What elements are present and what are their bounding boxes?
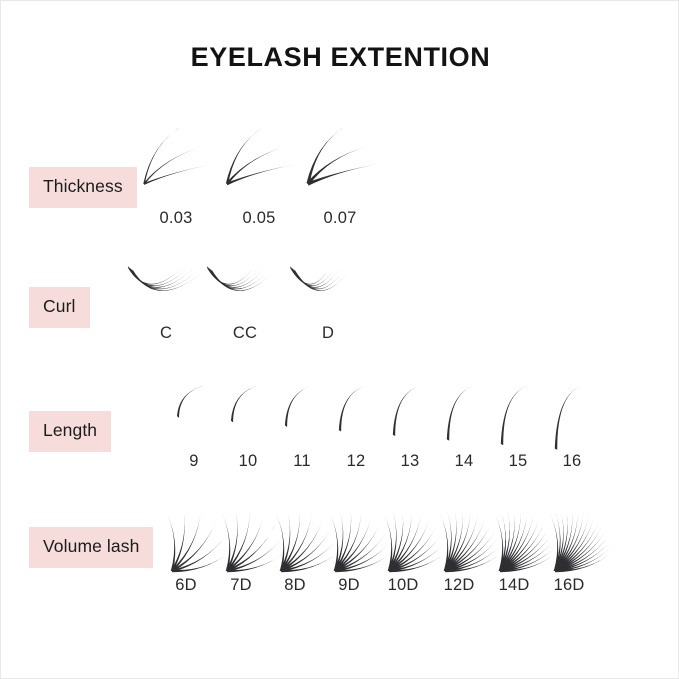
- lash-volume-fan-icon: [158, 497, 214, 575]
- lash-curl-icon: [199, 253, 291, 311]
- sample-length-10: 10: [221, 383, 275, 424]
- sample-curl-d: D: [282, 249, 374, 311]
- sample-volume-9d: 9D: [321, 497, 377, 575]
- sample-length-13: 13: [383, 383, 437, 437]
- sample-label: 9D: [321, 577, 377, 594]
- row-label-curl: Curl: [29, 287, 90, 328]
- lash-single-icon: [221, 383, 275, 424]
- sample-label: 12: [329, 453, 383, 470]
- sample-label: CC: [199, 325, 291, 342]
- sample-volume-12d: 12D: [431, 497, 487, 575]
- sample-label: 15: [491, 453, 545, 470]
- sample-label: 14D: [486, 577, 542, 594]
- lash-single-icon: [437, 383, 491, 442]
- sample-label: 16D: [541, 577, 597, 594]
- sample-label: 8D: [267, 577, 323, 594]
- sample-length-9: 9: [167, 383, 221, 419]
- sample-volume-6d: 6D: [158, 497, 214, 575]
- sample-label: 0.03: [128, 210, 224, 227]
- row-label-length: Length: [29, 411, 111, 452]
- sample-label: 11: [275, 453, 329, 470]
- lash-single-icon: [329, 383, 383, 433]
- sample-volume-14d: 14D: [486, 497, 542, 575]
- sample-length-11: 11: [275, 383, 329, 428]
- lash-volume-fan-icon: [213, 497, 269, 575]
- lash-single-icon: [383, 383, 437, 437]
- lash-volume-fan-icon: [267, 497, 323, 575]
- sample-label: 6D: [158, 577, 214, 594]
- lash-volume-fan-icon: [541, 497, 597, 575]
- sample-label: D: [282, 325, 374, 342]
- page-title: EYELASH EXTENTION: [1, 42, 679, 73]
- lash-volume-fan-icon: [375, 497, 431, 575]
- lash-single-icon: [545, 383, 599, 451]
- sample-label: 12D: [431, 577, 487, 594]
- sample-label: 0.07: [292, 210, 388, 227]
- sample-length-16: 16: [545, 383, 599, 451]
- sample-label: 14: [437, 453, 491, 470]
- sample-volume-10d: 10D: [375, 497, 431, 575]
- lash-fan-thin-icon: [128, 124, 224, 190]
- sample-volume-16d: 16D: [541, 497, 597, 575]
- row-thickness: Thickness 0.030.050.07: [1, 116, 679, 236]
- sample-length-15: 15: [491, 383, 545, 447]
- lash-single-icon: [167, 383, 221, 419]
- row-volume: Volume lash 6D7D8D9D10D12D14D16D: [1, 497, 679, 617]
- sample-curl-cc: CC: [199, 249, 291, 311]
- sample-volume-7d: 7D: [213, 497, 269, 575]
- sample-label: 10D: [375, 577, 431, 594]
- row-curl: Curl CCCD: [1, 249, 679, 369]
- lash-volume-fan-icon: [321, 497, 377, 575]
- sample-volume-8d: 8D: [267, 497, 323, 575]
- row-label-thickness: Thickness: [29, 167, 137, 208]
- sample-thickness-0.07: 0.07: [292, 116, 388, 190]
- lash-single-icon: [275, 383, 329, 428]
- sample-label: 7D: [213, 577, 269, 594]
- eyelash-extension-chart: EYELASH EXTENTION Thickness 0.030.050.07…: [0, 0, 679, 679]
- sample-thickness-0.03: 0.03: [128, 116, 224, 190]
- sample-label: 13: [383, 453, 437, 470]
- sample-length-14: 14: [437, 383, 491, 442]
- lash-single-icon: [491, 383, 545, 447]
- sample-label: 16: [545, 453, 599, 470]
- row-length: Length 910111213141516: [1, 383, 679, 503]
- lash-fan-thin-icon: [292, 124, 388, 190]
- lash-volume-fan-icon: [431, 497, 487, 575]
- row-label-volume: Volume lash: [29, 527, 153, 568]
- lash-volume-fan-icon: [486, 497, 542, 575]
- lash-curl-icon: [282, 253, 374, 311]
- sample-label: 10: [221, 453, 275, 470]
- sample-length-12: 12: [329, 383, 383, 433]
- sample-label: 9: [167, 453, 221, 470]
